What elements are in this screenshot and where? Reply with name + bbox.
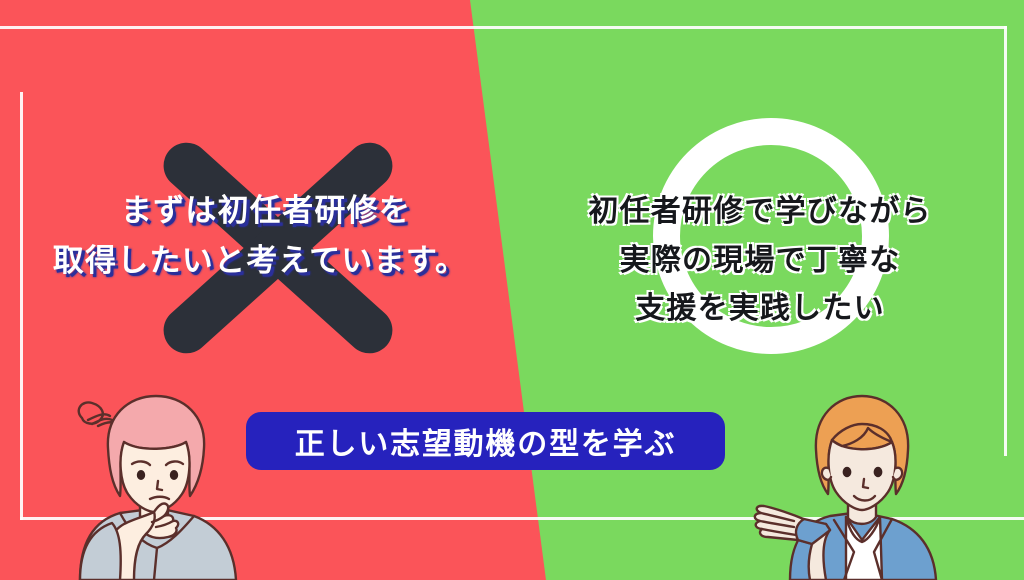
- good-example-line-2: 実際の現場で丁寧な: [510, 237, 1010, 286]
- worried-woman-illustration: [62, 380, 252, 580]
- slide-canvas: まずは初任者研修を 取得したいと考えています。 初任者研修で学びながら 実際の現…: [0, 0, 1024, 580]
- good-example-text: 初任者研修で学びながら 実際の現場で丁寧な 支援を実践したい: [510, 188, 1010, 334]
- good-example-line-3: 支援を実践したい: [510, 285, 1010, 334]
- scribble-icon: [79, 402, 115, 426]
- cta-badge[interactable]: 正しい志望動機の型を学ぶ: [246, 412, 725, 470]
- good-example-line-1: 初任者研修で学びながら: [510, 188, 1010, 237]
- frame-left-line: [20, 92, 23, 520]
- bad-example-line-2: 取得したいと考えています。: [0, 236, 520, 286]
- cta-badge-label: 正しい志望動機の型を学ぶ: [295, 419, 677, 463]
- frame-top-line: [0, 26, 1007, 29]
- bad-example-text: まずは初任者研修を 取得したいと考えています。: [0, 186, 520, 286]
- bad-example-line-1: まずは初任者研修を: [0, 186, 520, 236]
- presenting-woman-illustration: [742, 380, 952, 580]
